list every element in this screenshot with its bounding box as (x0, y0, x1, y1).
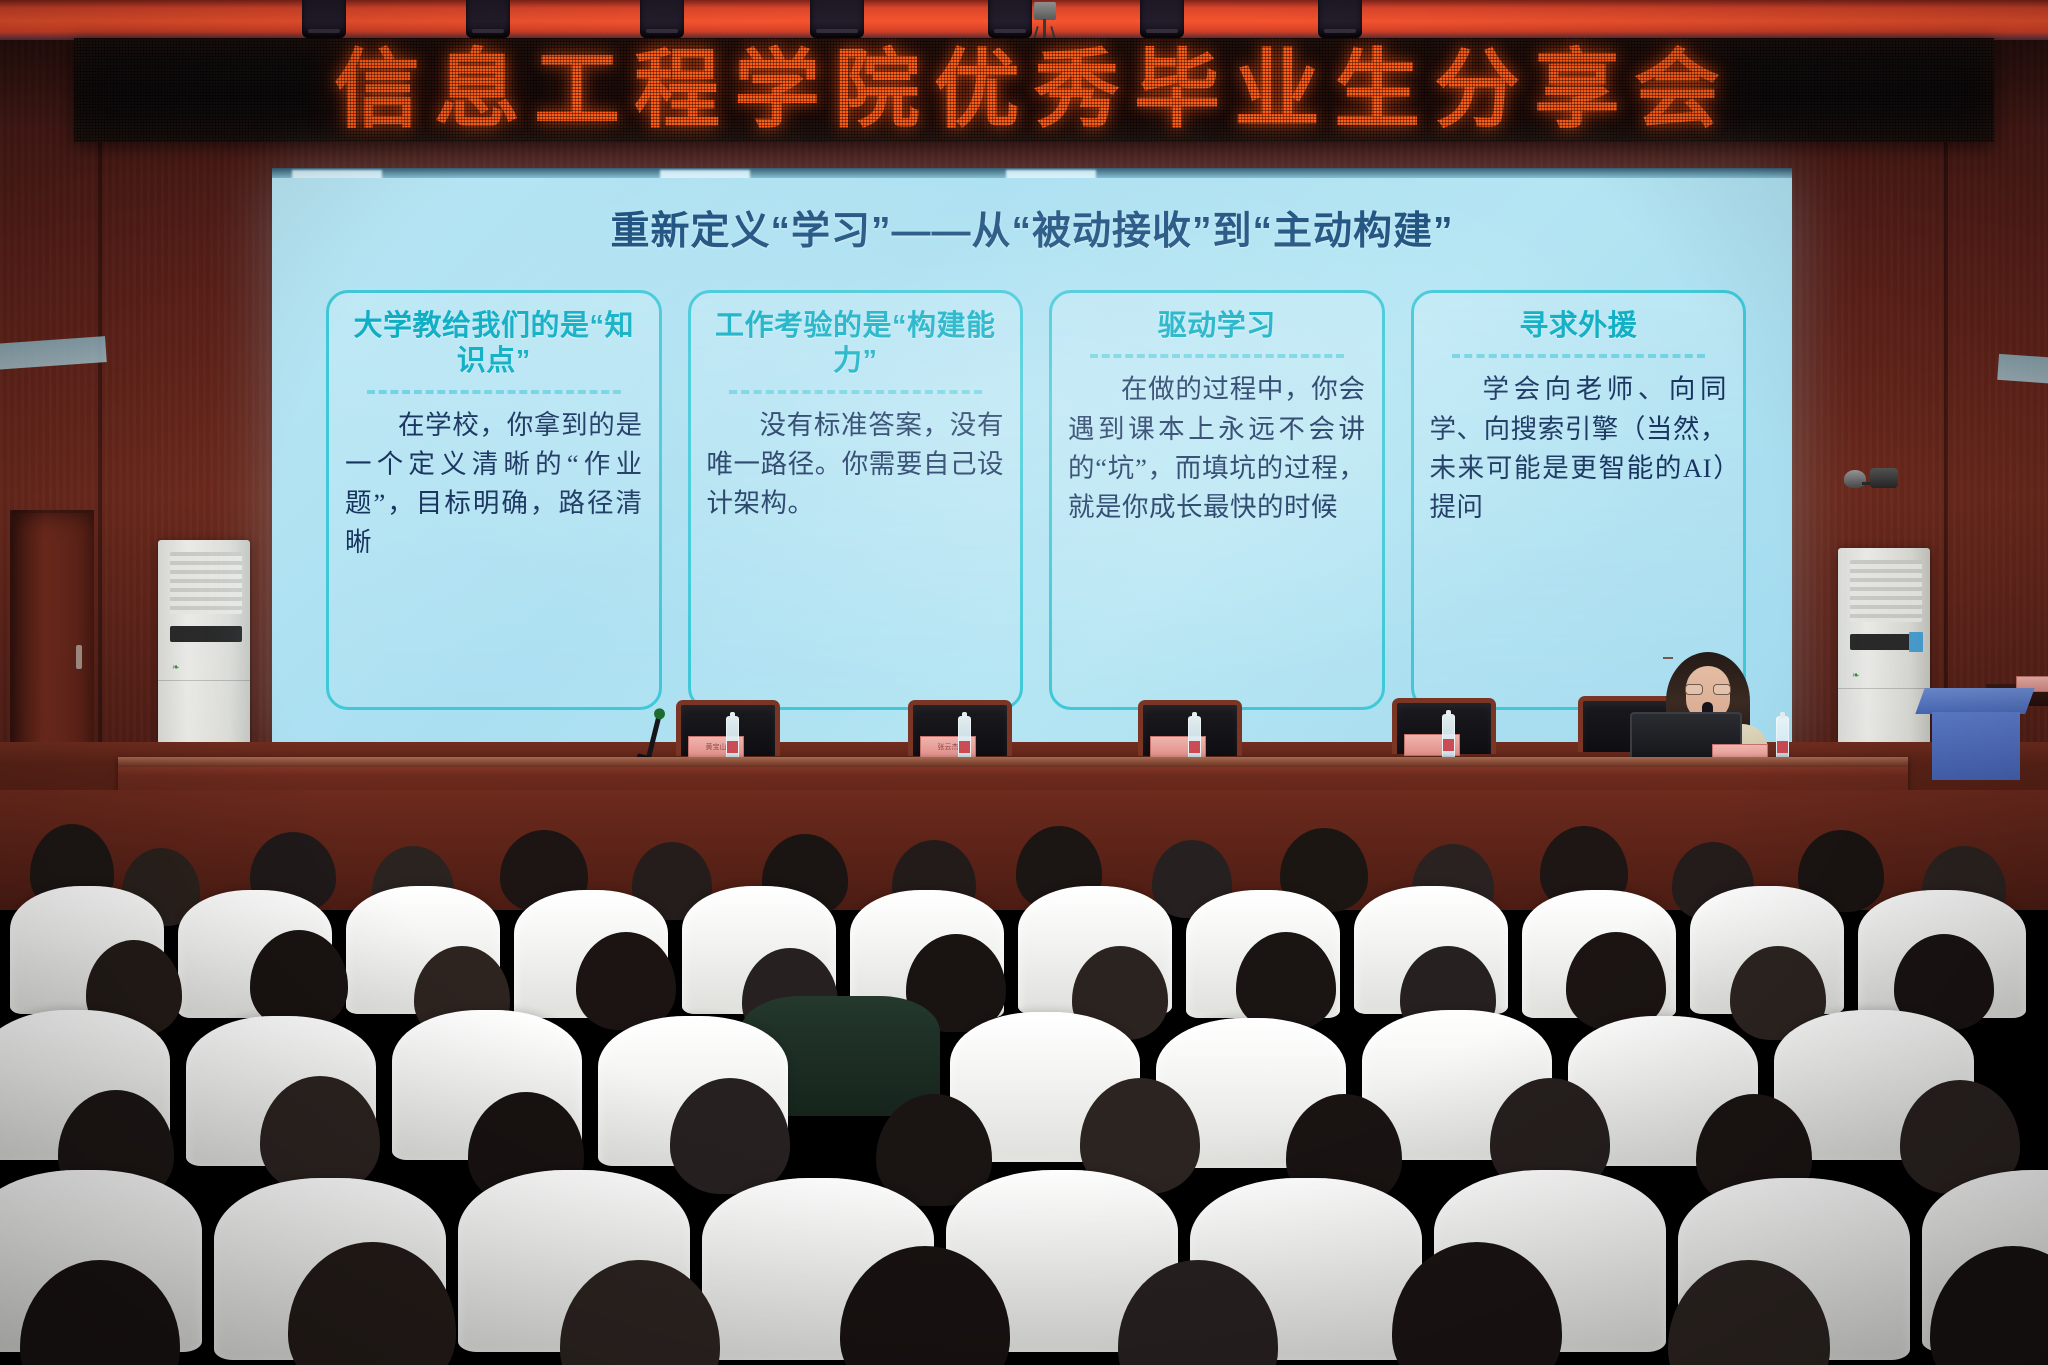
water-bottle-2 (958, 716, 971, 762)
led-banner: 信息工程学院优秀毕业生分享会 (74, 38, 1994, 142)
slide-card-2: 工作考验的是“构建能力” 没有标准答案，没有唯一路径。你需要自己设计架构。 (688, 290, 1024, 710)
led-banner-text: 信息工程学院优秀毕业生分享会 (100, 42, 1968, 138)
water-bottle-5 (1776, 716, 1789, 762)
slide-card-4-divider (1452, 354, 1706, 358)
slide-card-1-body: 在学校，你拿到的是一个定义清晰的“作业题”，目标明确，路径清晰 (345, 406, 643, 563)
water-bottle-3 (1188, 716, 1201, 762)
wall-seam-right (1944, 40, 1948, 800)
water-bottle-1 (726, 716, 739, 762)
slide-card-1: 大学教给我们的是“知识点” 在学校，你拿到的是一个定义清晰的“作业题”，目标明确… (326, 290, 662, 710)
wall-accent-band-left (0, 336, 107, 370)
wall-seam-left (98, 40, 102, 800)
slide-title: 重新定义“学习”——从“被动接收”到“主动构建” (272, 200, 1792, 256)
stage-light-2 (466, 0, 510, 38)
slide-card-2-title: 工作考验的是“构建能力” (707, 309, 1005, 380)
stage-light-3 (640, 0, 684, 38)
glasses-bridge (1663, 657, 1673, 659)
auditorium-scene: ❧ ❧ 信息工程学院优秀毕业生分享会 重新定义“学习”——从“被动接收”到“主动… (0, 0, 2048, 1365)
lectern-front (1932, 712, 2020, 780)
lectern (1920, 688, 2030, 780)
ac-brand-logo-right: ❧ (1852, 670, 1860, 681)
air-conditioner-left: ❧ (158, 540, 250, 750)
air-conditioner-right: ❧ (1838, 548, 1930, 758)
door-handle-icon (76, 645, 82, 669)
slide-card-1-divider (367, 390, 621, 394)
stage-light-5 (988, 0, 1032, 38)
slide-card-2-body: 没有标准答案，没有唯一路径。你需要自己设计架构。 (707, 406, 1005, 524)
slide-card-3-title: 驱动学习 (1068, 309, 1366, 344)
water-bottle-4 (1442, 714, 1455, 760)
slide-card-3-body: 在做的过程中，你会遇到课本上永远不会讲的“坑”，而填坑的过程，就是你成长最快的时… (1068, 370, 1366, 527)
stage-light-6 (1140, 0, 1184, 38)
ac-brand-logo: ❧ (172, 662, 180, 673)
slide-card-3: 驱动学习 在做的过程中，你会遇到课本上永远不会讲的“坑”，而填坑的过程，就是你成… (1049, 290, 1385, 710)
head-table-edge (118, 757, 1908, 767)
wall-camera (1844, 468, 1900, 490)
slide-card-4: 寻求外援 学会向老师、向同学、向搜索引擎（当然，未来可能是更智能的AI）提问 (1411, 290, 1747, 710)
ptz-camera-icon (1870, 468, 1898, 488)
slide-card-4-body: 学会向老师、向同学、向搜索引擎（当然，未来可能是更智能的AI）提问 (1430, 370, 1728, 527)
wall-accent-band-right (1997, 354, 2048, 388)
slide-card-1-title: 大学教给我们的是“知识点” (345, 309, 643, 380)
lectern-top (1915, 688, 2034, 714)
stage-light-4 (810, 0, 864, 38)
slide-card-row: 大学教给我们的是“知识点” 在学校，你拿到的是一个定义清晰的“作业题”，目标明确… (326, 290, 1746, 710)
stage-light-1 (302, 0, 346, 38)
audience-area (0, 790, 2048, 1365)
wall-speaker-icon (1844, 470, 1866, 488)
glasses-icon (1684, 684, 1732, 695)
projection-screen: 重新定义“学习”——从“被动接收”到“主动构建” 大学教给我们的是“知识点” 在… (272, 178, 1792, 748)
stage-light-7 (1318, 0, 1362, 38)
slide-card-3-divider (1090, 354, 1344, 358)
slide-card-2-divider (729, 390, 983, 394)
audience-head (250, 930, 348, 1028)
slide-card-4-title: 寻求外援 (1430, 309, 1728, 344)
